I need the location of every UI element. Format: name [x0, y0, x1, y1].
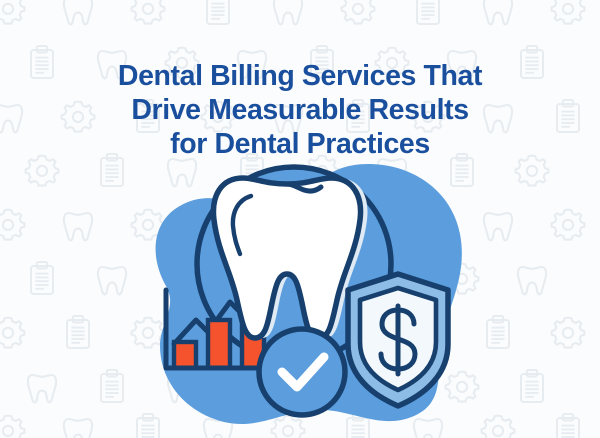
page-title: Dental Billing Services That Drive Measu… — [0, 59, 600, 161]
headline-line-3: for Dental Practices — [0, 127, 600, 161]
check-badge — [259, 329, 345, 415]
headline-line-1: Dental Billing Services That — [0, 59, 600, 93]
dollar-shield — [348, 274, 448, 406]
chart-bar-2 — [208, 320, 230, 368]
hero-banner: Dental Billing Services That Drive Measu… — [0, 0, 600, 438]
chart-bar-1 — [174, 342, 196, 368]
headline-line-2: Drive Measurable Results — [0, 93, 600, 127]
dental-billing-illustration — [130, 158, 470, 430]
illustration-svg — [130, 158, 470, 430]
check-circle — [259, 329, 345, 415]
